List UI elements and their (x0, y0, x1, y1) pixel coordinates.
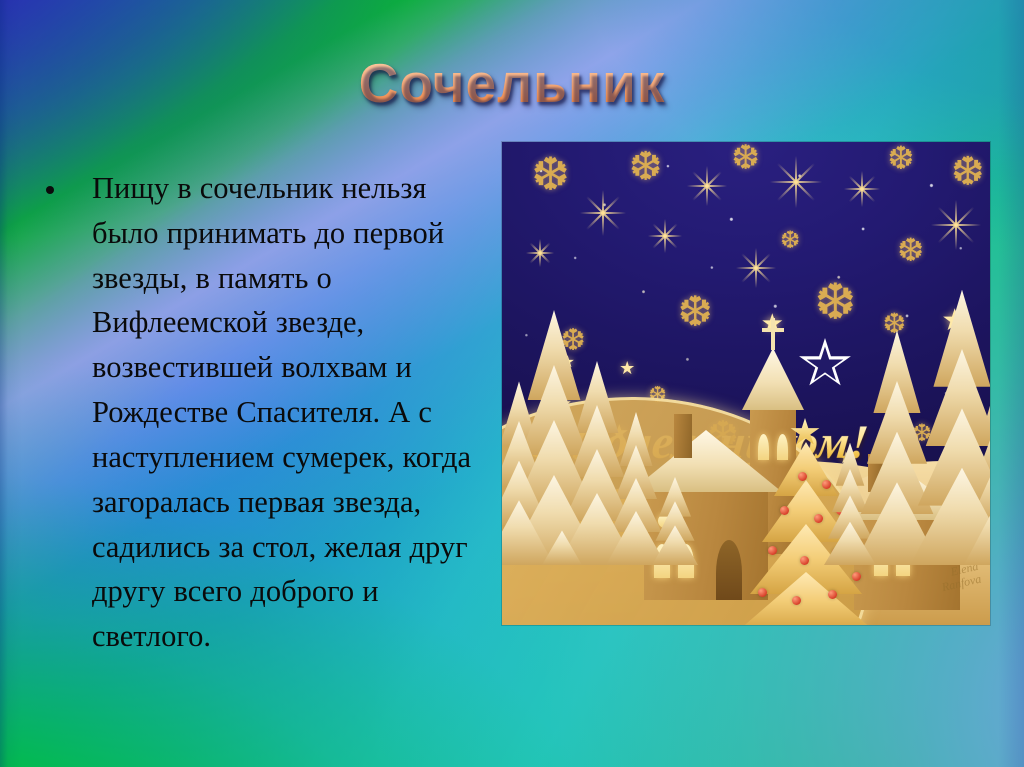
gold-snowflake-icon: ❆ (897, 234, 924, 266)
church-cross-vertical (771, 318, 775, 350)
bullet-marker-icon (46, 186, 54, 194)
bullet-item-text: Пищу в сочельник нельзя было принимать д… (92, 166, 478, 659)
tree-bauble (792, 596, 801, 605)
church-cross-horizontal (762, 328, 784, 332)
gold-snowflake-icon: ❆ (629, 147, 663, 187)
gold-snowflake-icon: ❆ (780, 229, 800, 253)
tree-bauble (768, 546, 777, 555)
bullet-list: Пищу в сочельник нельзя было принимать д… (38, 166, 478, 659)
gold-snowflake-icon: ❆ (951, 152, 985, 192)
tree-bauble (814, 514, 823, 523)
slide-title: Сочельник (0, 56, 1024, 111)
tree-bauble (780, 506, 789, 515)
gold-snowflake-icon: ❆ (731, 142, 760, 176)
tree-bauble (852, 572, 861, 581)
gold-snowflake-icon: ❆ (888, 142, 915, 174)
tree-bauble (828, 590, 837, 599)
tree-bauble (822, 480, 831, 489)
greeting-card-image: ❆❆❆❆❆❆❆❆❆❆❆❆❆❆❆ ★★★★★★★★★★ С Сочельником… (502, 142, 990, 625)
tree-bauble (758, 588, 767, 597)
tree-bauble (800, 556, 809, 565)
cottage-chimney (674, 414, 692, 458)
presentation-slide: Сочельник Пищу в сочельник нельзя было п… (0, 0, 1024, 767)
gold-snowflake-icon: ❆ (814, 277, 856, 327)
gold-snowflake-icon: ❆ (678, 292, 713, 334)
tree-bauble (798, 472, 807, 481)
church-window (758, 434, 769, 460)
cottage-door[interactable] (716, 540, 742, 600)
gold-snowflake-icon: ❆ (531, 152, 570, 198)
church-window (777, 434, 788, 460)
